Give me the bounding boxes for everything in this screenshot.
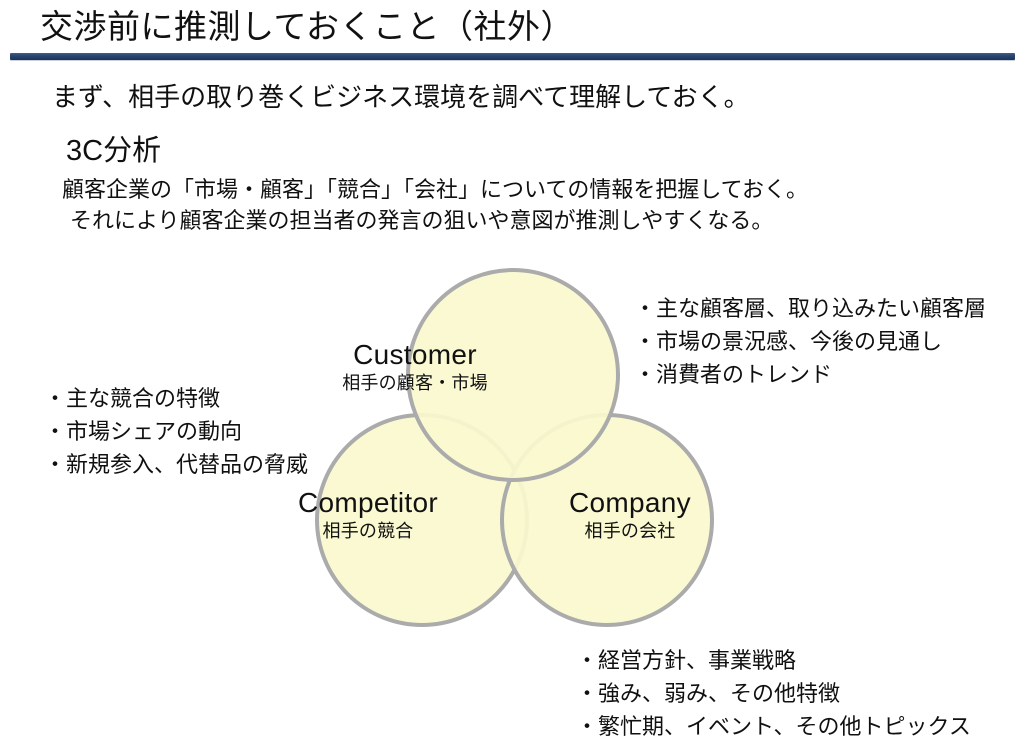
section-heading-3c: 3C分析 xyxy=(66,133,161,169)
bullet-list-company: ・経営方針、事業戦略 ・強み、弱み、その他特徴 ・繁忙期、イベント、その他トピッ… xyxy=(576,644,971,743)
section-body-line-1: 顧客企業の「市場・顧客」「競合」「会社」についての情報を把握しておく。 xyxy=(62,174,808,205)
title-divider-rule xyxy=(10,53,1015,60)
bullet-item: ・市場の景況感、今後の見通し xyxy=(634,325,986,358)
bullet-item: ・市場シェアの動向 xyxy=(44,415,308,448)
bullet-item: ・強み、弱み、その他特徴 xyxy=(576,677,971,710)
bullet-item: ・主な競合の特徴 xyxy=(44,382,308,415)
lead-sentence: まず、相手の取り巻くビジネス環境を調べて理解しておく。 xyxy=(52,80,750,114)
bullet-list-competitor: ・主な競合の特徴 ・市場シェアの動向 ・新規参入、代替品の脅威 xyxy=(44,382,308,481)
bullet-item: ・経営方針、事業戦略 xyxy=(576,644,971,677)
bullet-item: ・繁忙期、イベント、その他トピックス xyxy=(576,710,971,743)
page-title: 交渉前に推測しておくこと（社外） xyxy=(40,6,574,48)
bullet-list-customer: ・主な顧客層、取り込みたい顧客層 ・市場の景況感、今後の見通し ・消費者のトレン… xyxy=(634,292,986,391)
bullet-item: ・主な顧客層、取り込みたい顧客層 xyxy=(634,292,986,325)
venn-circle-customer[interactable] xyxy=(408,270,618,480)
bullet-item: ・消費者のトレンド xyxy=(634,358,986,391)
bullet-item: ・新規参入、代替品の脅威 xyxy=(44,448,308,481)
section-body-line-2: それにより顧客企業の担当者の発言の狙いや意図が推測しやすくなる。 xyxy=(62,205,808,236)
slide-canvas: 交渉前に推測しておくこと（社外） まず、相手の取り巻くビジネス環境を調べて理解し… xyxy=(0,0,1024,728)
section-body-text: 顧客企業の「市場・顧客」「競合」「会社」についての情報を把握しておく。 それによ… xyxy=(62,174,808,236)
